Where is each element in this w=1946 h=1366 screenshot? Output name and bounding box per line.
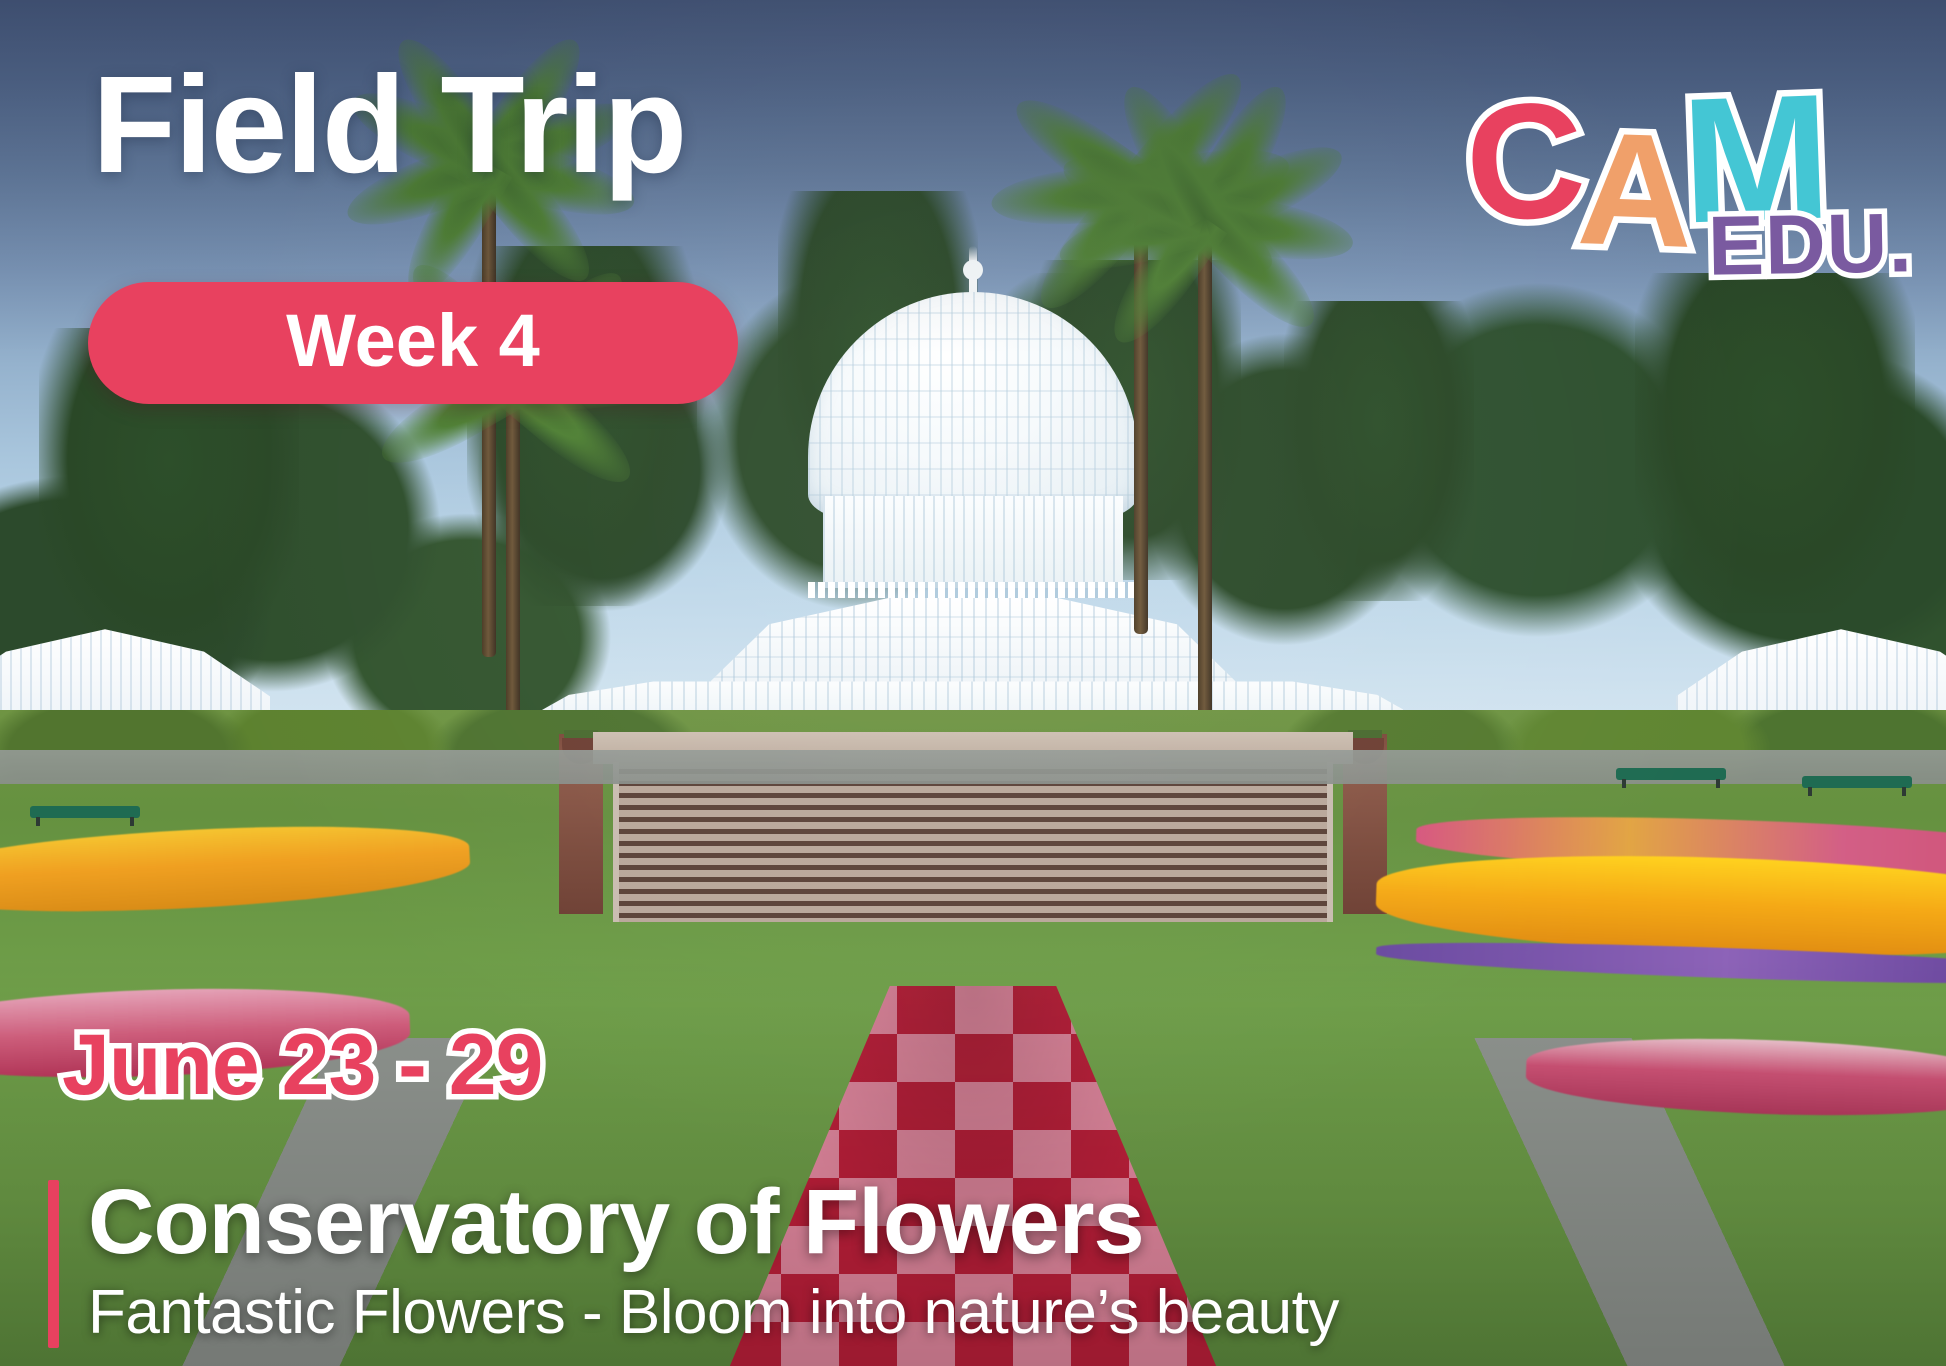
footer-block: Conservatory of Flowers Fantastic Flower… xyxy=(48,1174,1898,1348)
date-range: June 23 - 29 xyxy=(62,1016,542,1115)
destination-subtitle: Fantastic Flowers - Bloom into nature’s … xyxy=(88,1277,1898,1348)
cam-edu-logo[interactable]: C A M EDU. xyxy=(1470,70,1900,275)
week-badge-label: Week 4 xyxy=(148,304,678,378)
logo-letter-a: A xyxy=(1575,108,1696,272)
accent-bar xyxy=(48,1180,59,1348)
page-title: Field Trip xyxy=(92,56,685,194)
destination-title: Conservatory of Flowers xyxy=(88,1174,1898,1271)
field-trip-poster: Field Trip Week 4 C A M EDU. June 23 - 2… xyxy=(0,0,1946,1366)
week-badge[interactable]: Week 4 xyxy=(88,282,738,404)
logo-edu-wordmark: EDU. xyxy=(1707,194,1913,295)
text-overlay: Field Trip Week 4 C A M EDU. June 23 - 2… xyxy=(0,0,1946,1366)
logo-letter-c: C xyxy=(1460,76,1590,248)
